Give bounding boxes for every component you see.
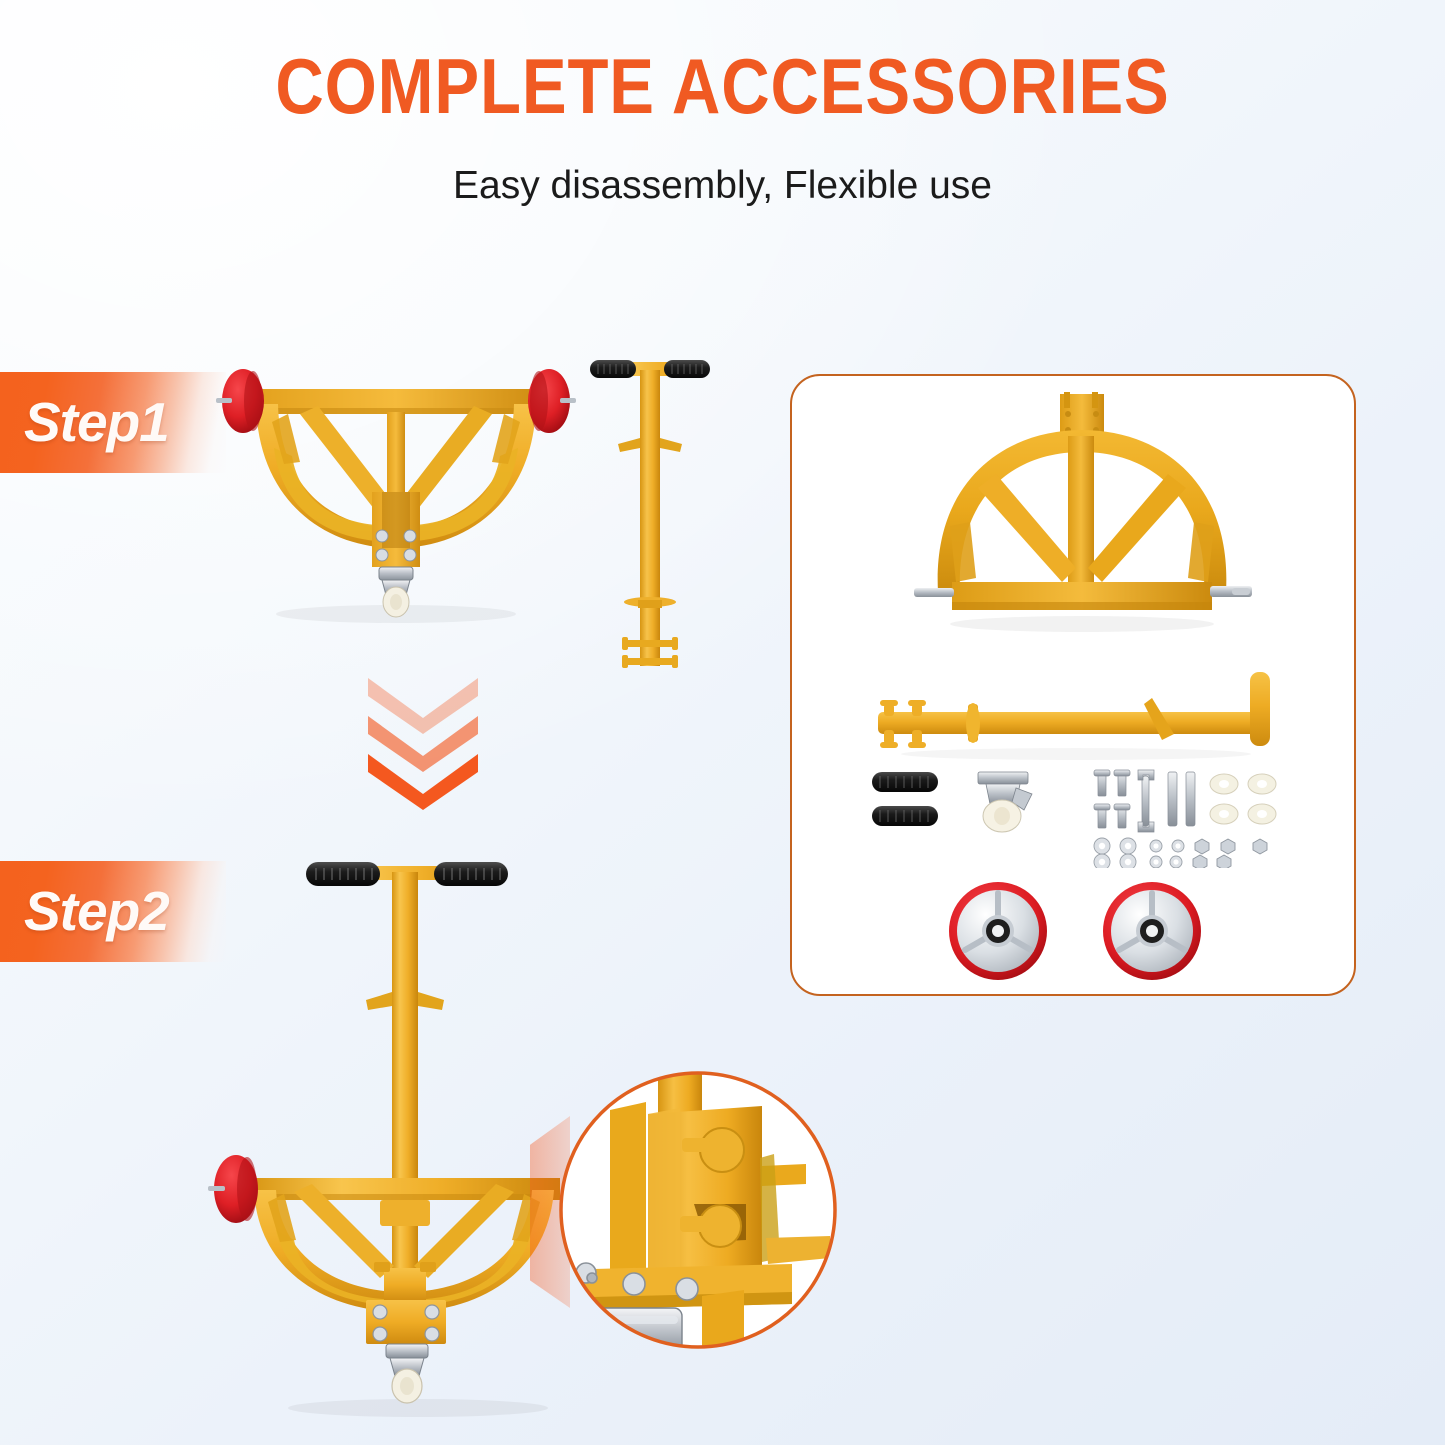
page-subtitle: Easy disassembly, Flexible use [0, 162, 1445, 210]
card-hardware-image [866, 758, 1286, 868]
drum-cradle-frame-image [196, 352, 596, 642]
pin-lock-detail-callout [530, 1058, 840, 1363]
chevron-down-icon-3 [368, 754, 478, 810]
step-label-1: Step1 [24, 395, 169, 450]
t-handle-bar-image [580, 352, 720, 682]
chevron-down-group [368, 678, 478, 808]
infographic-canvas: COMPLETE ACCESSORIES Easy disassembly, F… [0, 0, 1445, 1445]
page-title: COMPLETE ACCESSORIES [101, 44, 1344, 128]
card-handle-bar-image [856, 660, 1296, 770]
card-red-wheels-image [944, 876, 1234, 986]
step-banner-1: Step1 [0, 372, 226, 473]
step-label-2: Step2 [24, 884, 169, 939]
card-cradle-frame-image [886, 392, 1276, 642]
